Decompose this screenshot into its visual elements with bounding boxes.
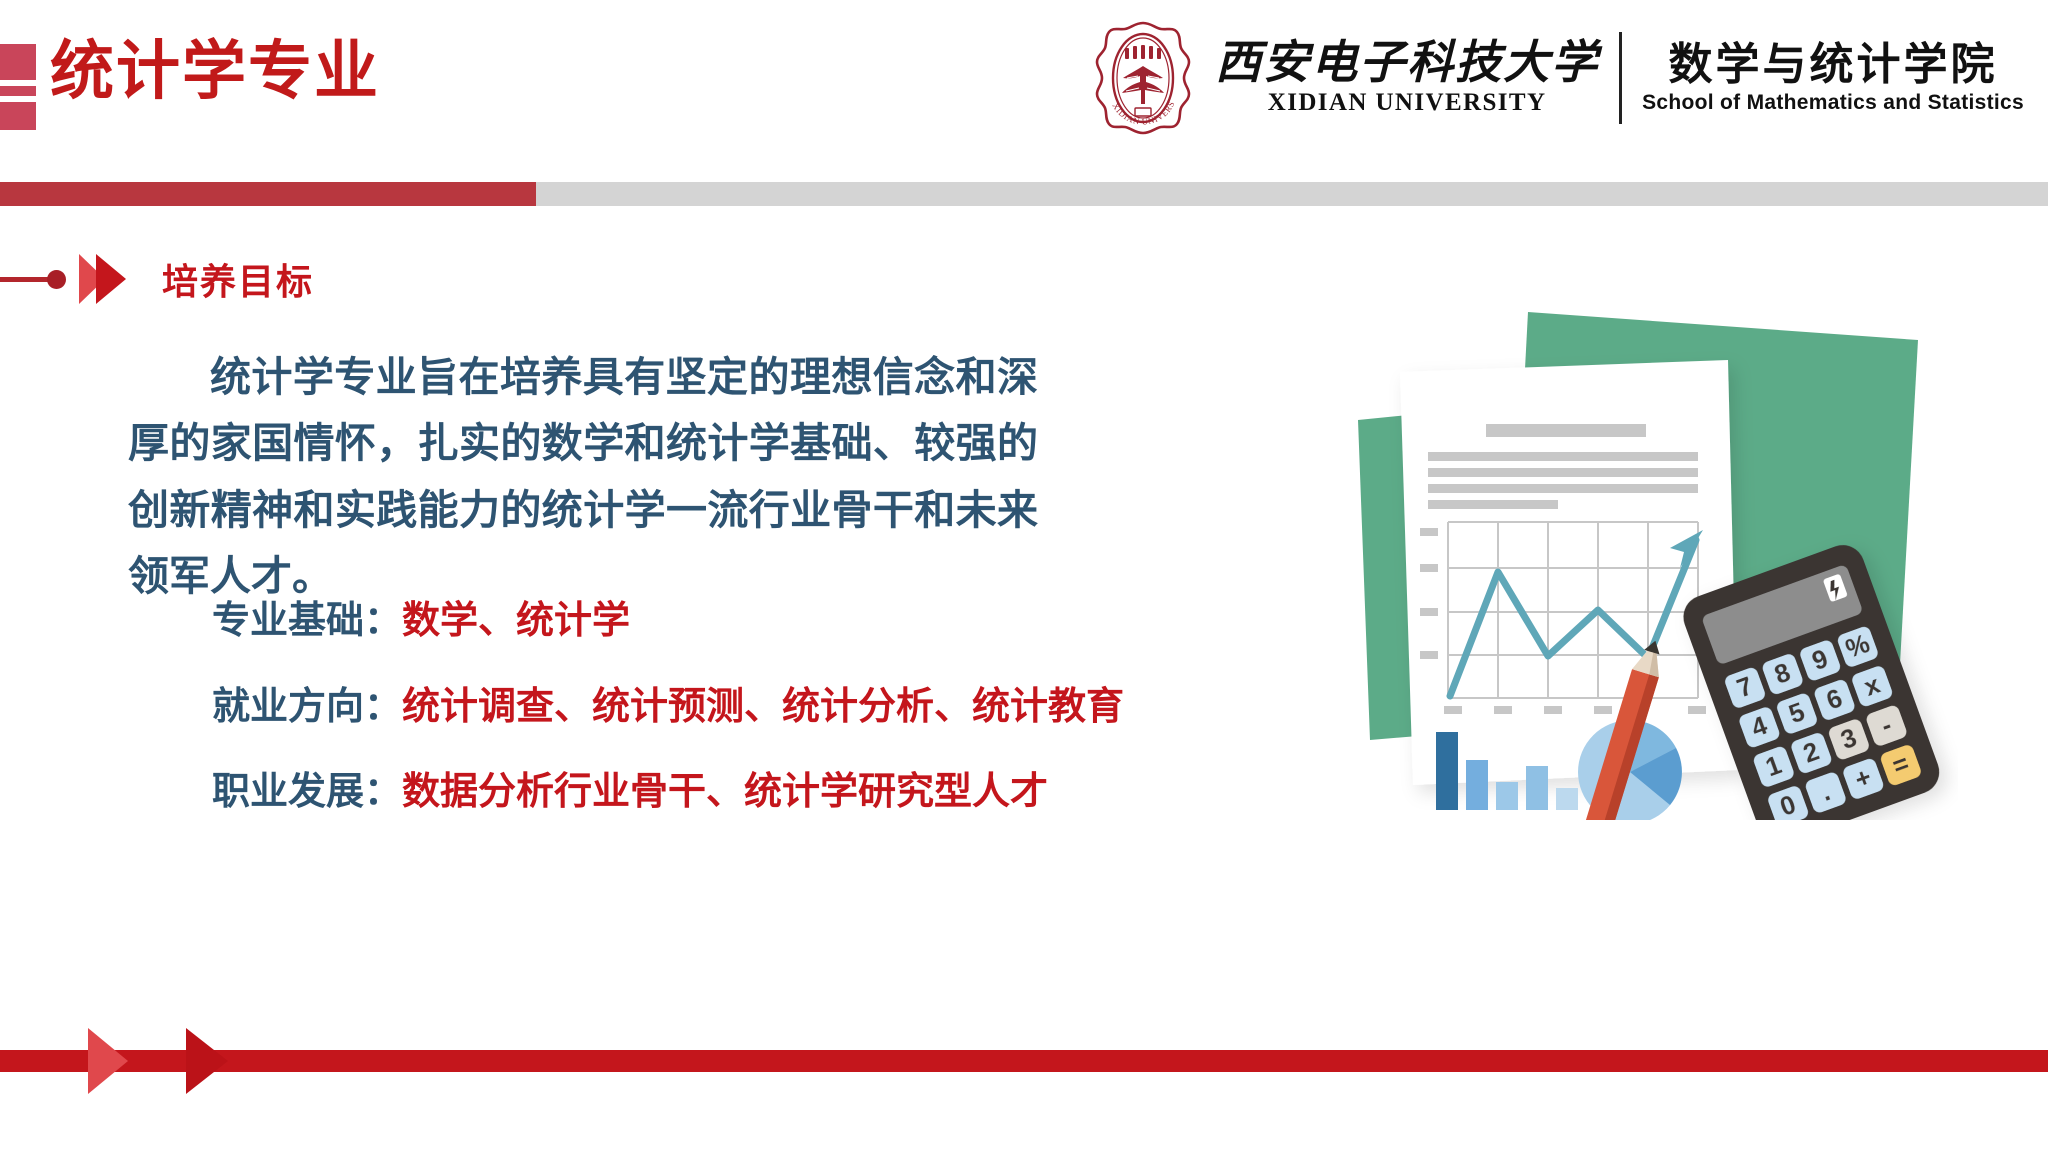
list-item: 职业发展：数据分析行业骨干、统计学研究型人才 [212, 769, 1222, 817]
spec-list: 专业基础：数学、统计学 就业方向：统计调查、统计预测、统计分析、统计教育 职业发… [212, 598, 1222, 855]
intro-paragraph: 统计学专业旨在培养具有坚定的理想信念和深厚的家国情怀，扎实的数学和统计学基础、较… [128, 344, 1038, 610]
statistics-report-illustration: 7 8 9 % 4 5 6 x 1 2 3 - 0 . [1358, 300, 1958, 820]
slide-root: 统计学专业 [0, 0, 2048, 1152]
school-name-cn: 数学与统计学院 [1669, 41, 1998, 89]
slide-footer [0, 1028, 2048, 1088]
footer-bar [0, 1050, 2048, 1072]
spec-value: 数据分析行业骨干、统计学研究型人才 [402, 771, 1048, 813]
left-accent-block [0, 44, 36, 130]
doc-title-line [1486, 424, 1646, 437]
slide-header: 统计学专业 [0, 0, 2048, 180]
chevron-right-icon-dark [96, 254, 126, 304]
spec-label: 就业方向： [212, 686, 402, 728]
accent-line-bottom [0, 96, 36, 102]
page-title: 统计学专业 [50, 28, 380, 114]
body-copy: 统计学专业旨在培养具有坚定的理想信念和深厚的家国情怀，扎实的数学和统计学基础、较… [128, 344, 1038, 610]
bullet-line [0, 277, 48, 282]
spec-value: 数学、统计学 [402, 600, 630, 642]
accent-line-top [0, 80, 36, 86]
university-name-en: XIDIAN UNIVERSITY [1268, 89, 1547, 117]
school-name-en: School of Mathematics and Statistics [1642, 91, 2024, 115]
spec-value: 统计调查、统计预测、统计分析、统计教育 [402, 686, 1124, 728]
logo-divider [1619, 32, 1622, 124]
university-name-group: 西安电子科技大学 XIDIAN UNIVERSITY [1215, 39, 1599, 117]
report-document [1400, 360, 1738, 785]
list-item: 就业方向：统计调查、统计预测、统计分析、统计教育 [212, 684, 1222, 732]
footer-chevron-icon-dark [186, 1028, 228, 1094]
header-divider-bar [0, 182, 2048, 206]
header-divider-red-segment [0, 182, 536, 206]
university-crest-icon: XIDIAN UNIVERSITY [1091, 20, 1195, 136]
university-name-cn: 西安电子科技大学 [1215, 39, 1599, 87]
school-name-group: 数学与统计学院 School of Mathematics and Statis… [1642, 41, 2024, 115]
footer-chevron-icon-light [88, 1028, 128, 1094]
spec-label: 专业基础： [212, 600, 402, 642]
section-title: 培养目标 [162, 253, 314, 305]
double-chevron-icon [79, 254, 126, 304]
bullet-dot-icon [47, 270, 66, 289]
spec-label: 职业发展： [212, 771, 402, 813]
list-item: 专业基础：数学、统计学 [212, 598, 1222, 646]
university-logo-block: XIDIAN UNIVERSITY 西安电子科技大学 XIDIAN UNIVER… [1091, 18, 2024, 138]
section-heading: 培养目标 [0, 248, 314, 310]
